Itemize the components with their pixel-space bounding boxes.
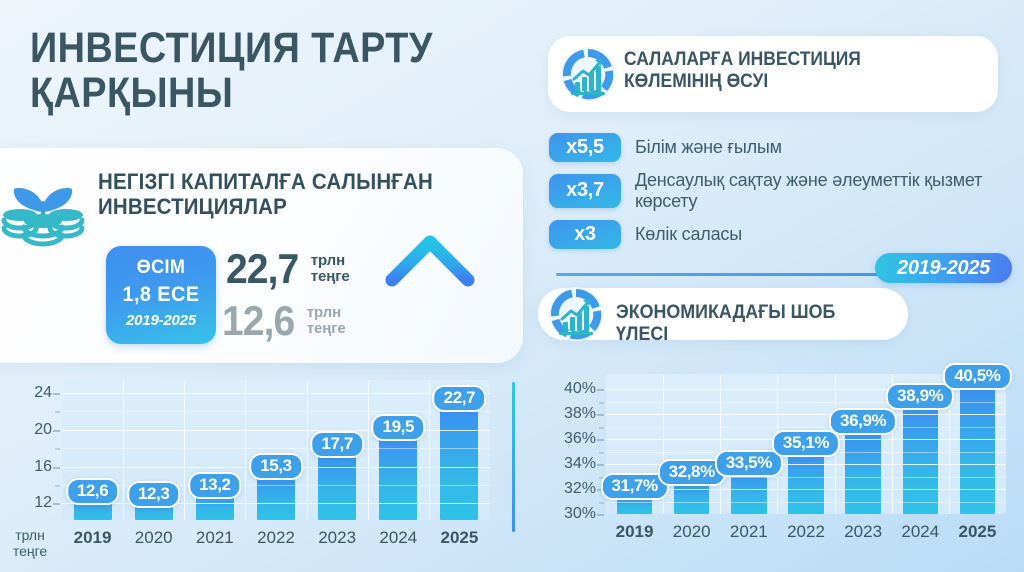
x-axis-tick-label: 2019 <box>74 528 112 548</box>
sectors-list: x5,5 Білім және ғылым x3,7 Денсаулық сақ… <box>549 133 1009 257</box>
axis-tick <box>599 427 604 429</box>
sector-multiplier-badge: x5,5 <box>549 133 621 162</box>
period-badge: 2019-2025 <box>875 253 1012 283</box>
bar-value-label: 15,3 <box>249 453 303 480</box>
up-arrow-icon <box>383 228 478 358</box>
y-axis-tick-label: 24 <box>34 384 52 402</box>
x-axis-tick-label: 2021 <box>196 528 234 548</box>
gridline <box>606 502 1006 503</box>
y-axis-labels: 12162024 <box>0 380 52 520</box>
gridline-vertical <box>184 380 185 520</box>
y-axis-tick-label: 34% <box>564 455 596 473</box>
sector-multiplier-badge: x3 <box>549 220 621 249</box>
page-title-line2: ҚАРҚЫНЫ <box>30 71 444 116</box>
current-unit-line1: трлн <box>311 252 345 269</box>
list-item: x5,5 Білім және ғылым <box>549 133 1009 162</box>
axis-tick <box>597 389 604 391</box>
bar-value-label: 35,1% <box>772 430 840 457</box>
gridline <box>606 427 1006 428</box>
y-axis-tick-label: 12 <box>34 494 52 512</box>
bars-group <box>62 380 490 520</box>
bar-value-label: 33,5% <box>715 450 783 477</box>
x-axis-tick-label: 2020 <box>135 528 173 548</box>
gridline <box>62 485 490 486</box>
x-axis-tick-label: 2024 <box>901 522 939 542</box>
list-item: x3 Көлік саласы <box>549 220 1009 249</box>
gridline <box>62 503 490 504</box>
y-axis-tick-label: 30% <box>564 505 596 523</box>
charts-divider <box>512 382 515 532</box>
coin-stack-plant-icon <box>0 168 86 248</box>
gridline <box>62 448 490 449</box>
previous-unit-line1: трлн <box>307 304 341 321</box>
bar-value-label: 40,5% <box>943 363 1011 390</box>
sector-label: Білім және ғылым <box>635 137 782 158</box>
axis-tick <box>599 502 604 504</box>
previous-value: 12,6 <box>222 300 294 342</box>
x-axis-tick-label: 2019 <box>616 522 654 542</box>
x-axis-tick-label: 2025 <box>441 528 479 548</box>
sectors-card-title-line2: КӨЛЕМІНІҢ ӨСУІ <box>624 71 768 92</box>
capital-card-title: НЕГІЗГІ КАПИТАЛҒА САЛЫНҒАН ИНВЕСТИЦИЯЛАР <box>98 170 470 219</box>
chart-investments-in-fixed-capital: 12162024 2019202020212022202320242025 тр… <box>0 372 500 572</box>
y-axis-unit-line1: трлн <box>15 527 45 543</box>
axis-tick <box>53 503 60 505</box>
gridline-vertical <box>245 380 246 520</box>
axis-tick <box>55 485 60 487</box>
current-unit-line2: теңге <box>311 268 350 285</box>
axis-tick <box>53 393 60 395</box>
x-axis-tick-label: 2020 <box>673 522 711 542</box>
sector-multiplier-badge: x3,7 <box>549 174 621 208</box>
bar-value-label: 38,9% <box>886 383 954 410</box>
y-axis-unit: трлн теңге <box>2 528 58 560</box>
axis-tick <box>597 514 604 516</box>
gridline-vertical <box>720 374 721 514</box>
current-value-row: 22,7 трлн теңге <box>226 248 350 290</box>
bar-value-label: 13,2 <box>188 472 242 499</box>
y-axis-labels: 30%32%34%36%38%40% <box>544 374 596 514</box>
y-axis-tick-label: 38% <box>564 405 596 423</box>
x-axis-tick-label: 2025 <box>959 522 997 542</box>
growth-badge-label: ӨСІМ <box>109 257 214 279</box>
axis-tick <box>597 439 604 441</box>
bar <box>903 403 938 514</box>
x-axis-tick-label: 2023 <box>844 522 882 542</box>
sector-label: Көлік саласы <box>635 224 742 245</box>
y-axis-tick-label: 20 <box>34 421 52 439</box>
x-axis-tick-label: 2021 <box>730 522 768 542</box>
sectors-card-title-line1: САЛАЛАРҒА ИНВЕСТИЦИЯ <box>624 49 861 70</box>
y-axis-tick-label: 32% <box>564 480 596 498</box>
current-value: 22,7 <box>226 248 298 290</box>
donut-bar-chart-icon <box>560 46 616 102</box>
bar-value-label: 19,5 <box>372 414 426 441</box>
x-axis-tick-label: 2023 <box>318 528 356 548</box>
previous-value-row: 12,6 трлн теңге <box>222 300 346 342</box>
axis-tick <box>55 411 60 413</box>
donut-bar-chart-icon <box>548 286 604 342</box>
previous-value-unit: трлн теңге <box>307 305 346 337</box>
axis-tick <box>597 414 604 416</box>
growth-badge: ӨСІМ 1,8 ЕСЕ 2019-2025 <box>106 246 216 344</box>
sme-card-title: ЭКОНОМИКАДАҒЫ ШОБ ҮЛЕСІ <box>616 302 889 346</box>
capital-card-title-line2: ИНВЕСТИЦИЯЛАР <box>98 194 287 219</box>
axis-tick <box>599 402 604 404</box>
bar-value-label: 22,7 <box>433 385 487 412</box>
gridline <box>62 393 490 394</box>
gridline-vertical <box>429 380 430 520</box>
bar-value-label: 12,3 <box>127 481 181 508</box>
y-axis-tick-label: 40% <box>564 380 596 398</box>
sector-label: Денсаулық сақтау және әлеуметтік қызмет … <box>635 170 1009 212</box>
y-axis-tick-label: 16 <box>34 458 52 476</box>
axis-tick <box>599 452 604 454</box>
x-axis-tick-label: 2024 <box>379 528 417 548</box>
bar <box>257 473 295 520</box>
growth-badge-period: 2019-2025 <box>106 312 216 329</box>
previous-unit-line2: теңге <box>307 320 346 337</box>
plot-area <box>62 380 490 520</box>
gridline-vertical <box>123 380 124 520</box>
gridline <box>62 411 490 412</box>
page-title: ИНВЕСТИЦИЯ ТАРТУ ҚАРҚЫНЫ <box>30 26 444 115</box>
capital-card-title-line1: НЕГІЗГІ КАПИТАЛҒА САЛЫНҒАН <box>98 169 433 194</box>
axis-tick <box>55 448 60 450</box>
y-axis-tick-label: 36% <box>564 430 596 448</box>
x-axis-tick-label: 2022 <box>257 528 295 548</box>
gridline-vertical <box>368 380 369 520</box>
list-item: x3,7 Денсаулық сақтау және әлеуметтік қы… <box>549 170 1009 212</box>
sectors-card-title: САЛАЛАРҒА ИНВЕСТИЦИЯ КӨЛЕМІНІҢ ӨСУІ <box>624 49 955 94</box>
bar-value-label: 17,7 <box>310 431 364 458</box>
y-axis-unit-line2: теңге <box>13 543 47 559</box>
bar <box>788 450 823 514</box>
chart-sme-share-in-economy: 30%32%34%36%38%40% 201920202021202220232… <box>528 348 1024 572</box>
page-title-line1: ИНВЕСТИЦИЯ ТАРТУ <box>30 24 433 72</box>
sectors-growth-card: САЛАЛАРҒА ИНВЕСТИЦИЯ КӨЛЕМІНІҢ ӨСУІ <box>548 36 998 112</box>
sme-share-card: ЭКОНОМИКАДАҒЫ ШОБ ҮЛЕСІ <box>538 288 908 340</box>
growth-badge-value: 1,8 ЕСЕ <box>109 283 214 307</box>
capital-investments-card: НЕГІЗГІ КАПИТАЛҒА САЛЫНҒАН ИНВЕСТИЦИЯЛАР… <box>0 148 523 363</box>
x-axis-tick-label: 2022 <box>787 522 825 542</box>
gridline <box>62 430 490 431</box>
bar-value-label: 36,9% <box>829 408 897 435</box>
current-value-unit: трлн теңге <box>311 253 350 285</box>
axis-tick <box>53 467 60 469</box>
axis-tick <box>597 464 604 466</box>
axis-tick <box>53 430 60 432</box>
bar-value-label: 12,6 <box>66 478 120 505</box>
gridline <box>606 414 1006 415</box>
infographic-canvas: ИНВЕСТИЦИЯ ТАРТУ ҚАРҚЫНЫ <box>0 0 1024 572</box>
gridline-vertical <box>307 380 308 520</box>
